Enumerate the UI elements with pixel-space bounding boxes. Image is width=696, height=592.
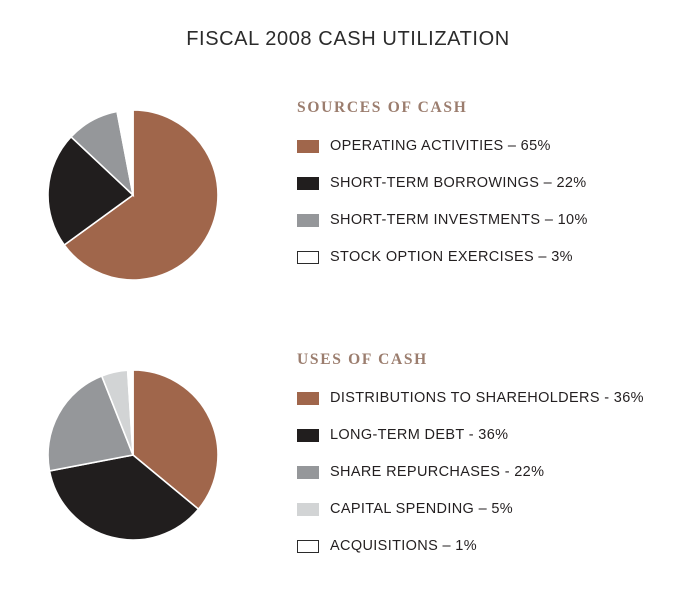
legend-item: ACQUISITIONS – 1%	[297, 538, 644, 554]
legend-item: SHORT-TERM BORROWINGS – 22%	[297, 175, 588, 191]
legend-item-label: SHARE REPURCHASES - 22%	[330, 464, 544, 480]
legend-item: STOCK OPTION EXERCISES – 3%	[297, 249, 588, 265]
legend-heading-sources: SOURCES OF CASH	[297, 100, 588, 116]
legend-swatch-icon	[297, 540, 319, 553]
legend-item-label: SHORT-TERM BORROWINGS – 22%	[330, 175, 587, 191]
legend-item: SHARE REPURCHASES - 22%	[297, 464, 644, 480]
legend-sources-rows: OPERATING ACTIVITIES – 65%SHORT-TERM BOR…	[297, 138, 588, 265]
legend-item: OPERATING ACTIVITIES – 65%	[297, 138, 588, 154]
legend-item-label: CAPITAL SPENDING – 5%	[330, 501, 513, 517]
legend-item-label: ACQUISITIONS – 1%	[330, 538, 477, 554]
pie-chart-sources-svg	[47, 109, 219, 281]
legend-item: DISTRIBUTIONS TO SHAREHOLDERS - 36%	[297, 390, 644, 406]
legend-item: CAPITAL SPENDING – 5%	[297, 501, 644, 517]
legend-swatch-icon	[297, 251, 319, 264]
legend-item-label: LONG-TERM DEBT - 36%	[330, 427, 508, 443]
pie-chart-sources-of-cash	[47, 109, 219, 281]
legend-uses-of-cash: USES OF CASH DISTRIBUTIONS TO SHAREHOLDE…	[297, 352, 644, 554]
legend-item-label: DISTRIBUTIONS TO SHAREHOLDERS - 36%	[330, 390, 644, 406]
legend-uses-rows: DISTRIBUTIONS TO SHAREHOLDERS - 36%LONG-…	[297, 390, 644, 554]
legend-heading-uses: USES OF CASH	[297, 352, 644, 368]
legend-swatch-icon	[297, 214, 319, 227]
legend-swatch-icon	[297, 140, 319, 153]
legend-swatch-icon	[297, 466, 319, 479]
legend-item-label: STOCK OPTION EXERCISES – 3%	[330, 249, 573, 265]
legend-swatch-icon	[297, 503, 319, 516]
legend-swatch-icon	[297, 177, 319, 190]
legend-item-label: SHORT-TERM INVESTMENTS – 10%	[330, 212, 588, 228]
legend-item: SHORT-TERM INVESTMENTS – 10%	[297, 212, 588, 228]
legend-swatch-icon	[297, 429, 319, 442]
pie-chart-uses-of-cash	[47, 369, 219, 541]
legend-sources-of-cash: SOURCES OF CASH OPERATING ACTIVITIES – 6…	[297, 100, 588, 265]
page-title: FISCAL 2008 CASH UTILIZATION	[0, 28, 696, 51]
legend-item: LONG-TERM DEBT - 36%	[297, 427, 644, 443]
pie-chart-uses-svg	[47, 369, 219, 541]
legend-swatch-icon	[297, 392, 319, 405]
legend-item-label: OPERATING ACTIVITIES – 65%	[330, 138, 551, 154]
